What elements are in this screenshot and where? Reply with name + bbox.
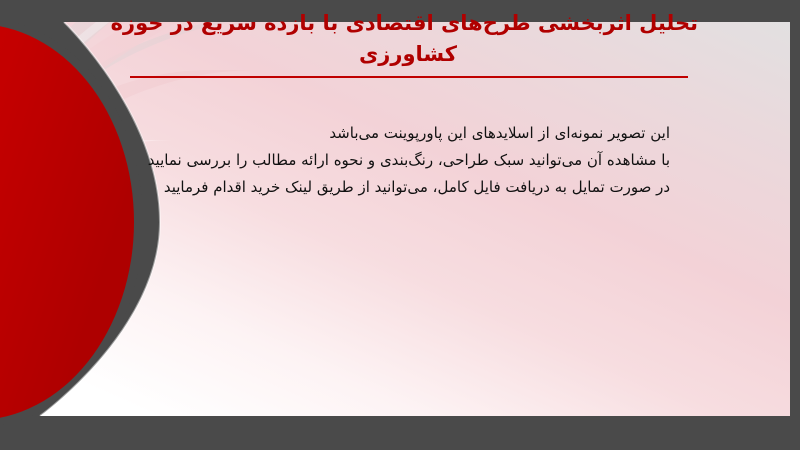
body-line-3: در صورت تمایل به دریافت فایل کامل، می‌تو… [125,174,670,201]
body-line-1: این تصویر نمونه‌ای از اسلایدهای این پاور… [125,120,670,147]
slide-canvas: تحلیل اثربخشی طرح‌های اقتصادی با بازده س… [0,0,800,450]
body-line-2: با مشاهده آن می‌توانید سبک طراحی، رنگ‌بن… [125,147,670,174]
slide-title: تحلیل اثربخشی طرح‌های اقتصادی با بازده س… [118,8,698,70]
title-line-2: کشاورزی [118,39,698,70]
right-edge-strip [790,0,800,450]
title-line-1: تحلیل اثربخشی طرح‌های اقتصادی با بازده س… [118,8,698,39]
slide-body: این تصویر نمونه‌ای از اسلایدهای این پاور… [125,120,670,201]
title-underline [130,76,688,78]
bottom-bar [0,416,800,450]
